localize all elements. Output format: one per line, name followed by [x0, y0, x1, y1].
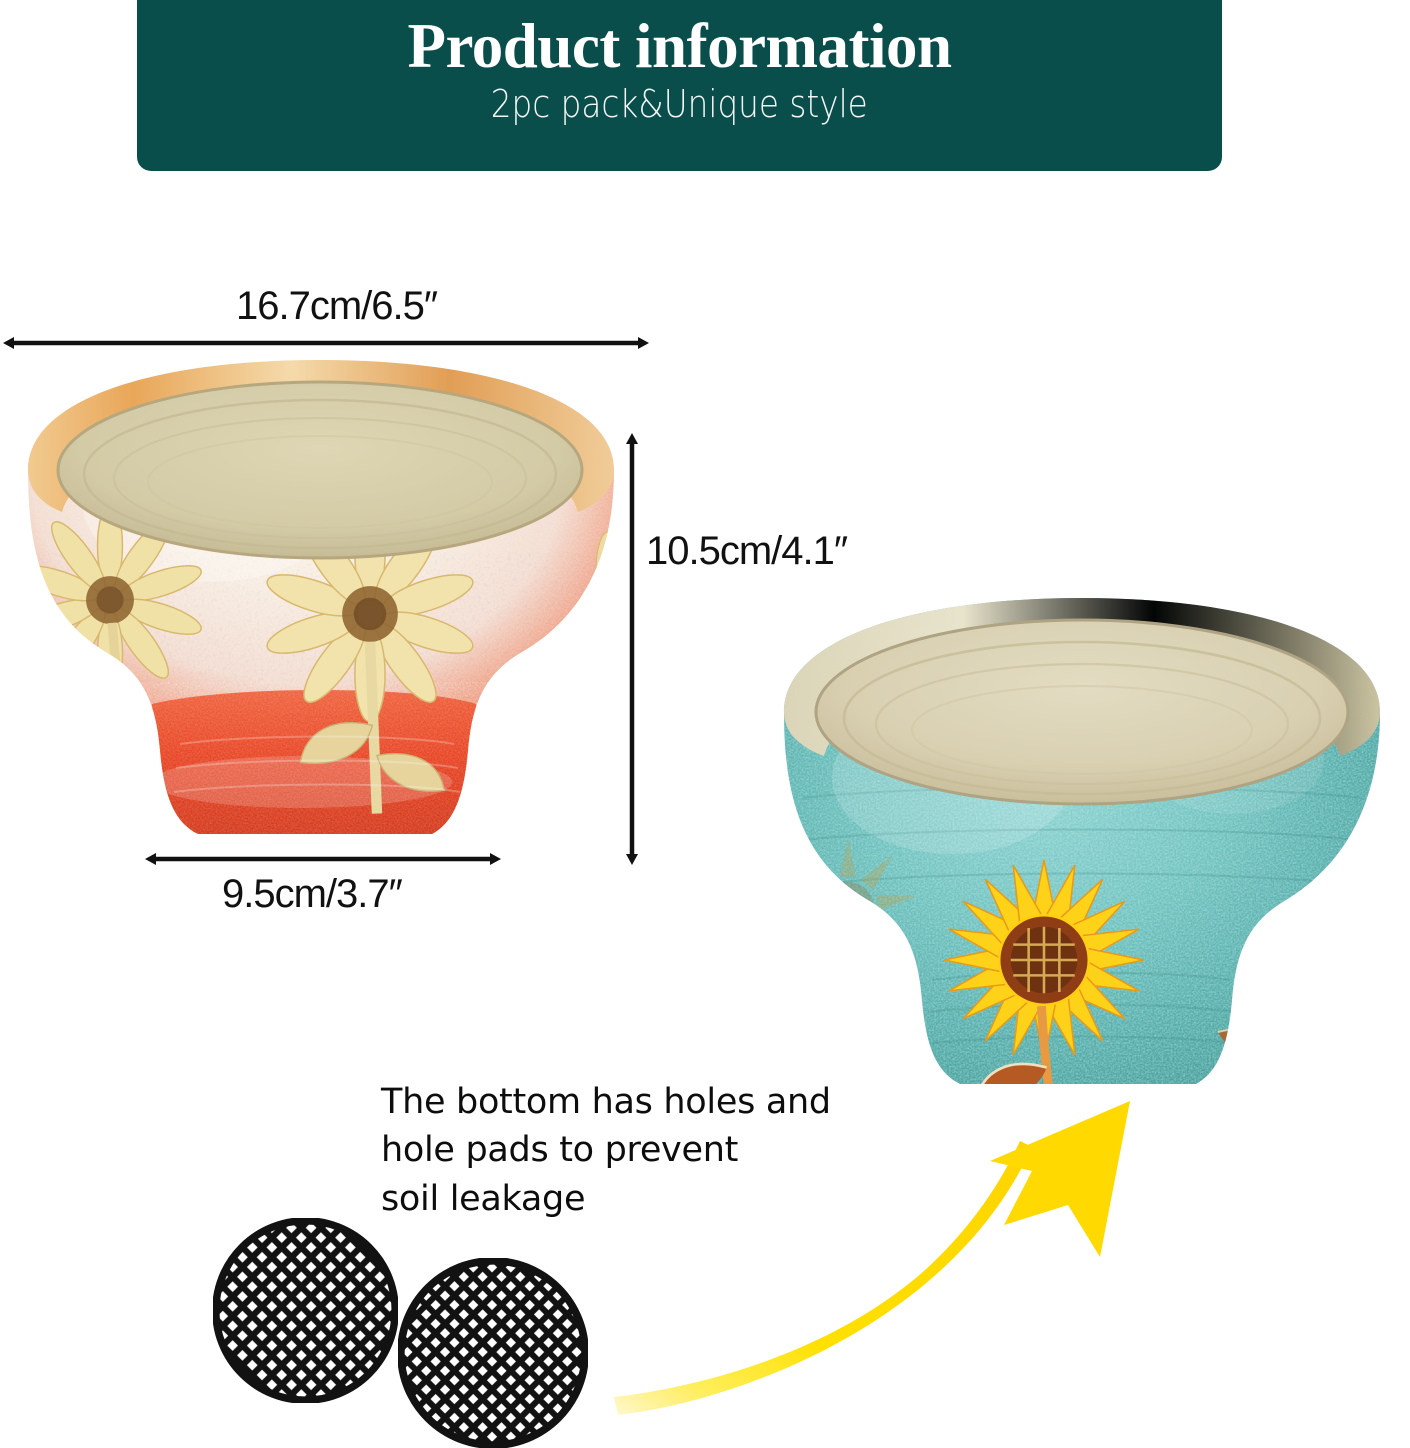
curved-pointer-arrow	[600, 1085, 1160, 1430]
mesh-drainage-pad-left	[213, 1218, 398, 1403]
mesh-drainage-pad-right	[398, 1258, 588, 1448]
dimension-arrow-height	[614, 430, 650, 868]
dimension-label-width: 16.7cm/6.5″	[236, 284, 437, 329]
leaf-motif	[1218, 1029, 1280, 1058]
product-image-teal-planter	[762, 588, 1402, 1098]
flower-motif	[1283, 877, 1402, 1077]
dimension-arrow-base	[142, 842, 504, 876]
dimension-label-base: 9.5cm/3.7″	[222, 872, 402, 917]
product-image-red-planter	[2, 352, 642, 857]
teal-planter-body	[762, 598, 1402, 1098]
page-subtitle: 2pc pack&Unique style	[491, 84, 868, 126]
page-title: Product information	[407, 14, 951, 78]
header-banner: Product information 2pc pack&Unique styl…	[137, 0, 1222, 171]
dimension-arrow-width	[0, 326, 652, 360]
dimension-label-height: 10.5cm/4.1″	[646, 529, 847, 574]
red-planter-body	[2, 360, 642, 857]
